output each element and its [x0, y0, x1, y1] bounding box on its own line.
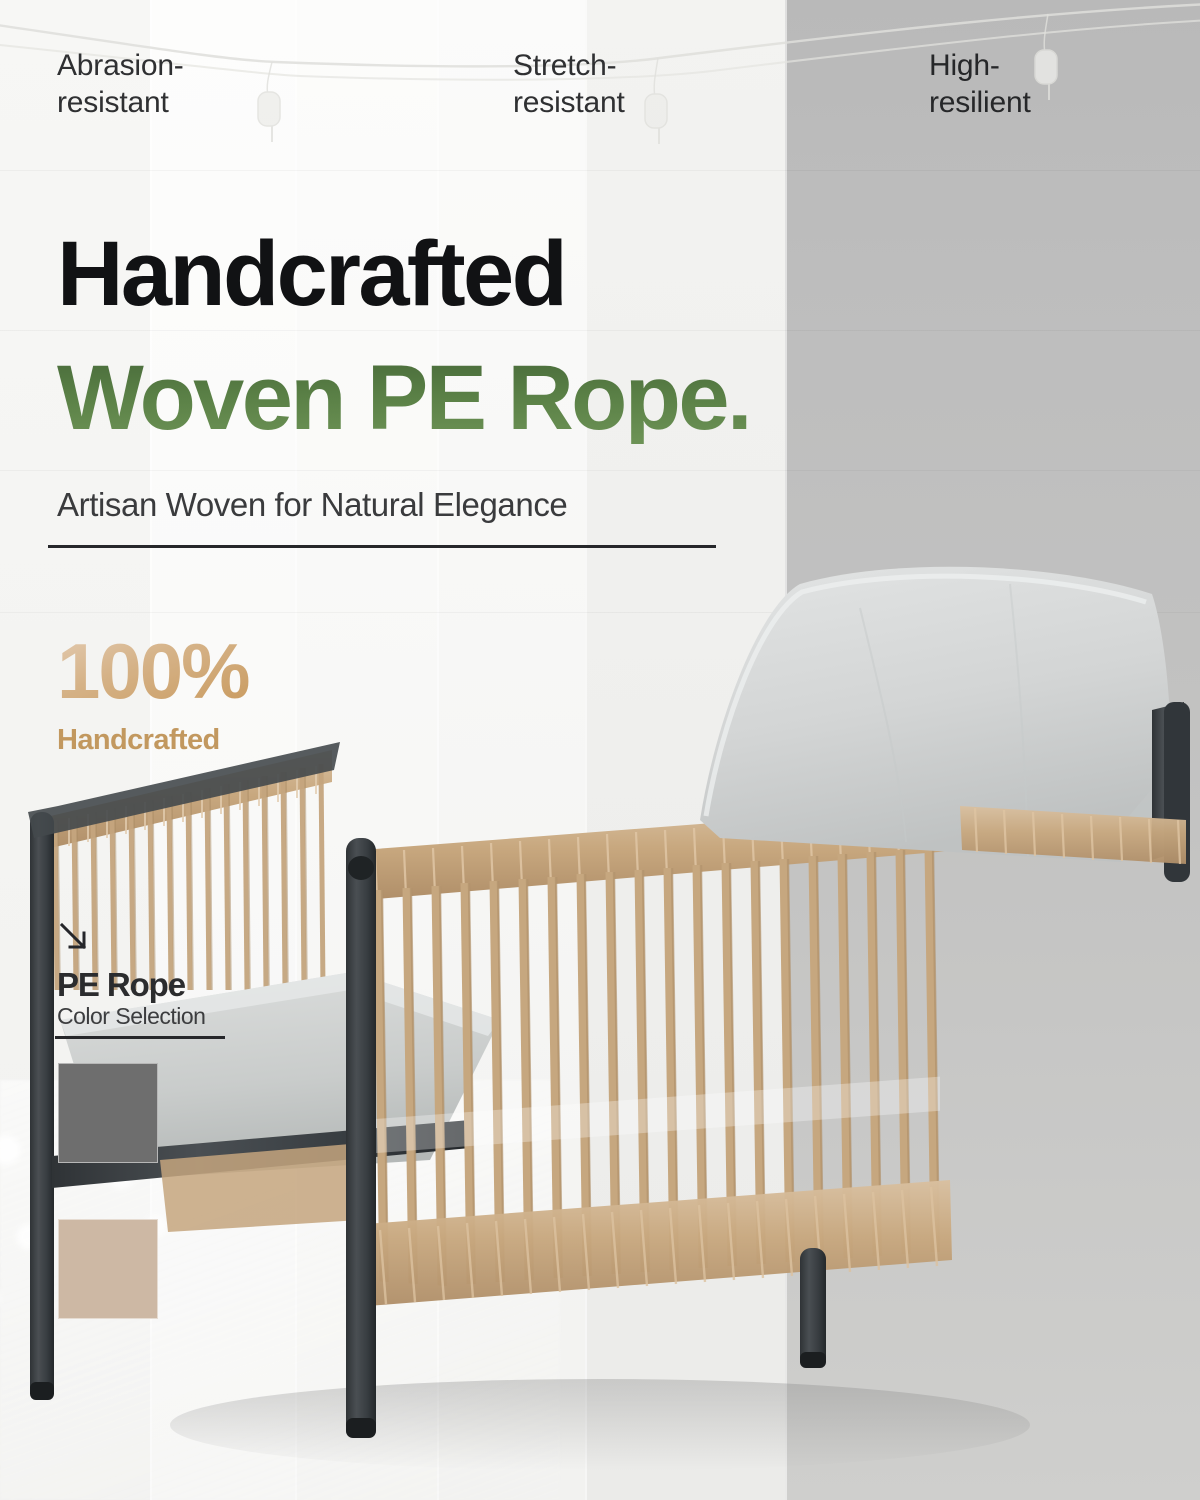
color-swatch-tan-beige[interactable] — [58, 1219, 158, 1319]
wall-seam-line — [0, 470, 1200, 471]
feature-line-2: resilient — [929, 85, 1031, 122]
feature-line-1: Stretch- — [513, 48, 625, 85]
headline-secondary: Woven PE Rope. — [57, 352, 750, 444]
color-selection-title: PE Rope — [57, 966, 185, 1004]
feature-line-2: resistant — [57, 85, 184, 122]
headline-primary: Handcrafted — [57, 228, 565, 320]
color-swatch-dark-gray[interactable] — [58, 1063, 158, 1163]
feature-label-resilient: High- resilient — [929, 48, 1031, 121]
color-selection-subtitle: Color Selection — [57, 1003, 205, 1030]
rear-leg — [800, 1248, 826, 1368]
feature-line-1: Abrasion- — [57, 48, 184, 85]
color-selection-divider — [55, 1036, 225, 1039]
feature-line-1: High- — [929, 48, 1031, 85]
front-post — [346, 838, 376, 1438]
feature-label-abrasion: Abrasion- resistant — [57, 48, 184, 121]
marketing-image: Abrasion- resistant Stretch- resistant H… — [0, 0, 1200, 1500]
feature-label-stretch: Stretch- resistant — [513, 48, 625, 121]
floor-shadow — [170, 1379, 1030, 1471]
feature-line-2: resistant — [513, 85, 625, 122]
arrow-down-right-icon — [57, 920, 91, 954]
wall-seam-line — [0, 330, 1200, 331]
headline-subtitle: Artisan Woven for Natural Elegance — [57, 486, 567, 524]
